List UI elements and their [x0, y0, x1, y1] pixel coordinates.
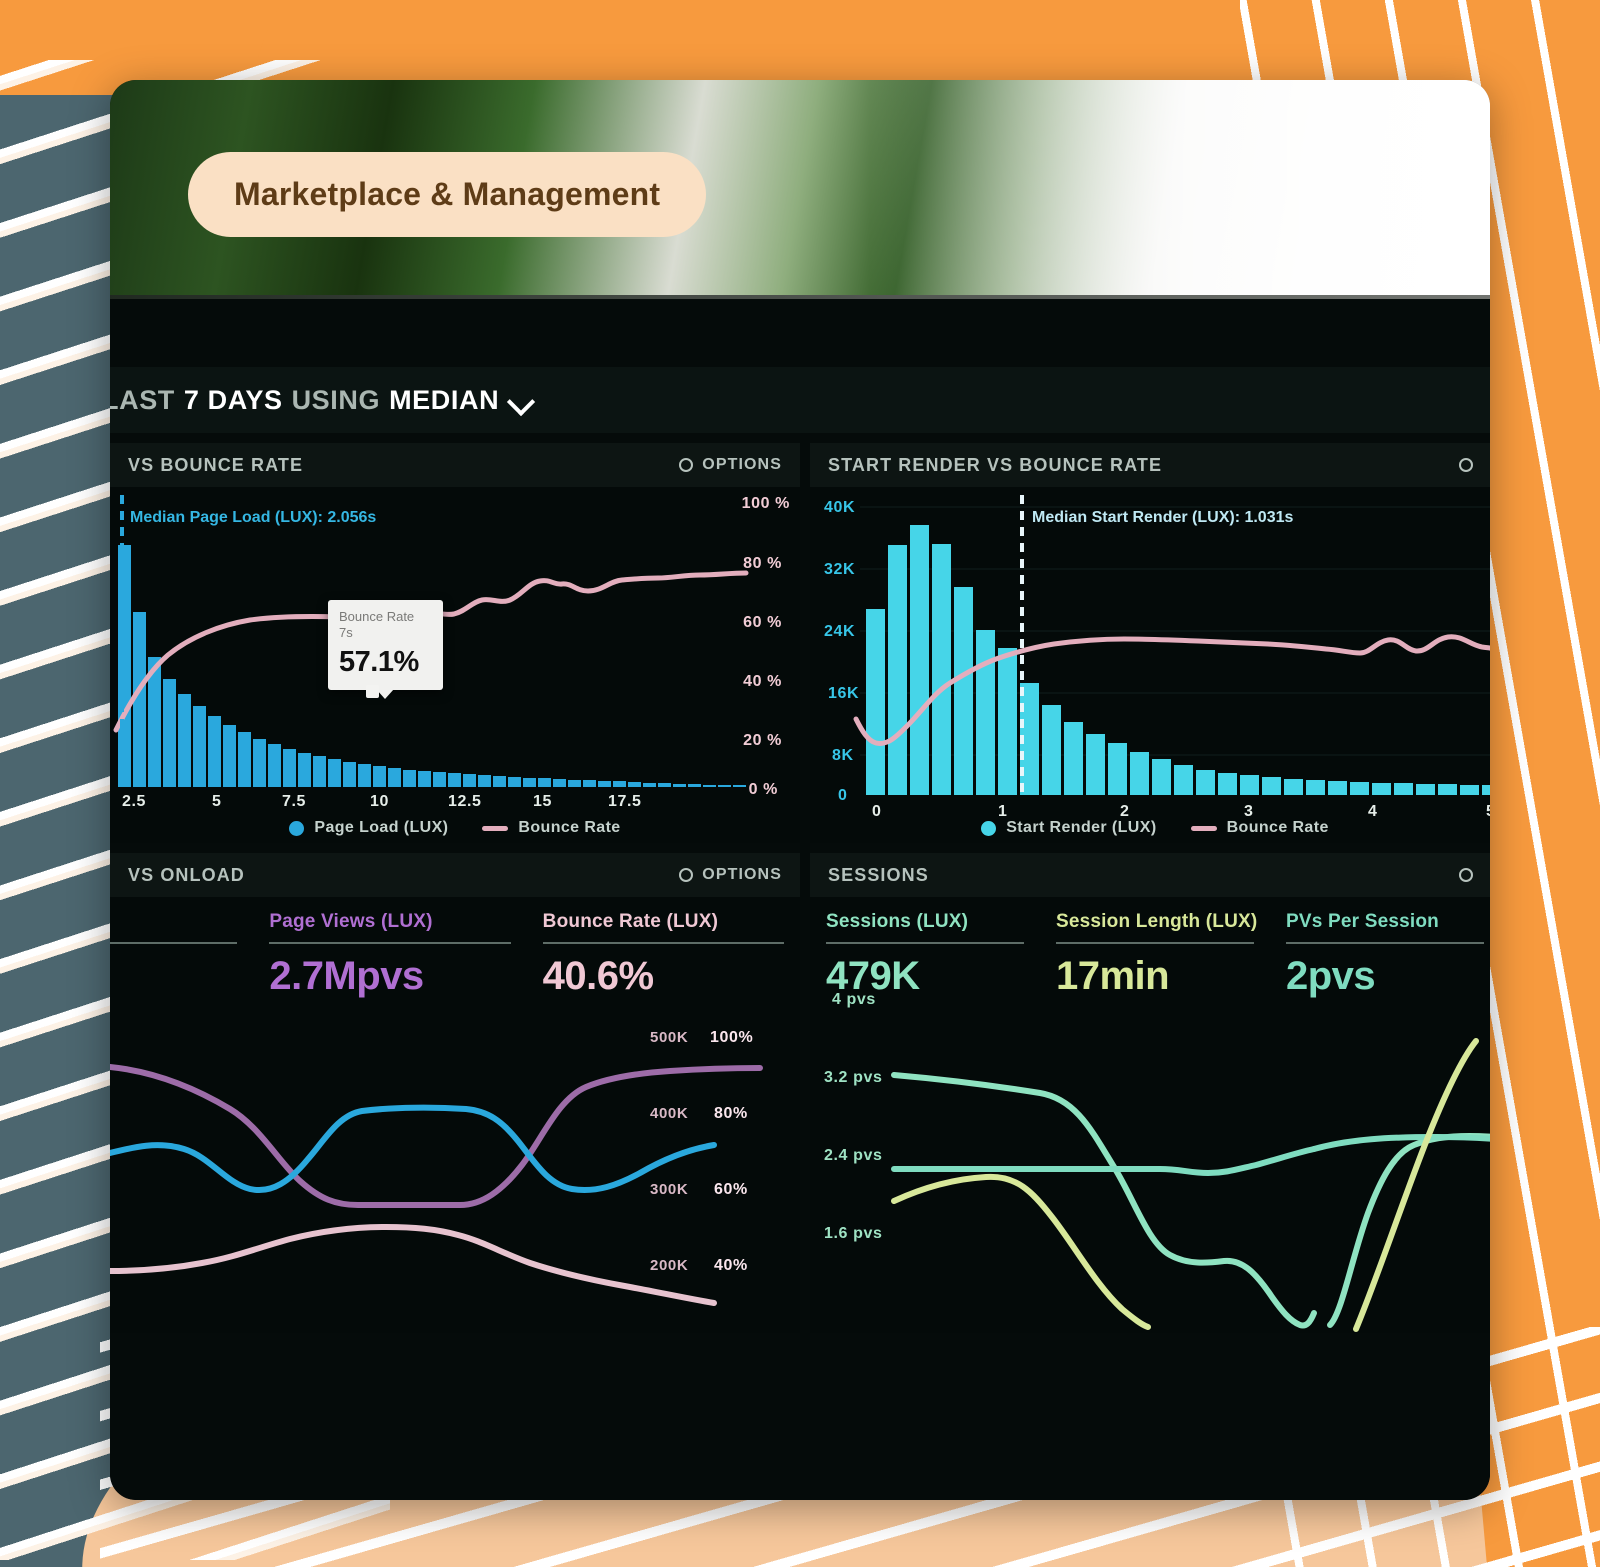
panel-header: START RENDER VS BOUNCE RATE	[810, 443, 1490, 487]
y-tick-60: 60 %	[743, 614, 782, 632]
panel-header: VS ONLOAD OPTIONS	[110, 853, 800, 897]
dashboard-card: Marketplace & Management LAST 7 DAYS USI…	[110, 80, 1490, 1500]
panel-start-render-vs-bounce-rate: START RENDER VS BOUNCE RATE	[810, 443, 1490, 843]
y-tick-500k: 500K	[650, 1029, 688, 1046]
options-button[interactable]	[1459, 868, 1482, 882]
panel-title: VS ONLOAD	[128, 865, 245, 886]
panel-sessions: SESSIONS Sessions (LUX) 479K Session Len…	[810, 853, 1490, 1333]
gear-icon	[1459, 458, 1473, 472]
y-tick-32k: 32K	[824, 561, 855, 579]
metric-tile-sessions[interactable]: Sessions (LUX) 479K	[810, 897, 1040, 999]
pvs-per-session-line-2	[1314, 1137, 1490, 1149]
options-button[interactable]	[1459, 458, 1482, 472]
onload-line	[110, 1108, 714, 1190]
sessions-line-2	[1330, 1136, 1490, 1325]
y-tick-2-4pvs: 2.4 pvs	[824, 1147, 882, 1165]
metric-value: 2pvs	[1286, 954, 1484, 999]
panel-title: SESSIONS	[828, 865, 929, 886]
legend-label: Page Load (LUX)	[314, 819, 448, 837]
y-tick-100: 100 %	[742, 495, 790, 513]
tooltip-sub: 7s	[339, 625, 432, 641]
metric-tile-pvs-per-session[interactable]: PVs Per Session 2pvs	[1270, 897, 1490, 999]
page-load-chart	[110, 487, 800, 843]
options-button[interactable]: OPTIONS	[679, 456, 782, 474]
options-button[interactable]: OPTIONS	[679, 866, 782, 884]
legend-item-bounce-rate[interactable]: Bounce Rate	[1191, 819, 1329, 837]
metric-rule	[1056, 942, 1254, 944]
x-tick-7-5: 7.5	[282, 793, 306, 811]
legend-label: Bounce Rate	[1227, 819, 1329, 837]
y-tick-100pct: 100%	[710, 1029, 753, 1047]
panel-page-load-vs-bounce-rate: VS BOUNCE RATE OPTIONS	[110, 443, 800, 843]
bounce-rate-tooltip: Bounce Rate 7s 57.1%	[328, 600, 443, 690]
legend-item-bounce-rate[interactable]: Bounce Rate	[482, 819, 620, 837]
gear-icon	[1459, 868, 1473, 882]
x-tick-5: 5	[212, 793, 222, 811]
legend-line-icon	[482, 826, 508, 831]
page-title: Marketplace & Management	[188, 152, 706, 237]
tooltip-value: 57.1%	[339, 646, 432, 679]
metric-tile-session-length[interactable]: Session Length (LUX) 17min	[1040, 897, 1270, 999]
sessions-sparklines	[890, 1013, 1490, 1333]
metric-label: LUX)	[110, 911, 237, 942]
median-page-load-label: Median Page Load (LUX): 2.056s	[130, 509, 376, 527]
tooltip-point-marker	[366, 685, 379, 698]
start-render-chart	[810, 487, 1490, 843]
y-tick-0: 0	[838, 787, 848, 805]
metric-value: 17min	[1056, 954, 1254, 999]
x-tick-10: 10	[370, 793, 389, 811]
y-tick-16k: 16K	[828, 685, 859, 703]
onload-sparklines	[110, 1013, 800, 1333]
metric-value: 40.6%	[543, 954, 784, 999]
session-length-line-2	[1356, 1041, 1476, 1329]
gear-icon	[679, 868, 693, 882]
options-label: OPTIONS	[702, 866, 782, 884]
session-length-line	[894, 1177, 1148, 1327]
y-tick-24k: 24K	[824, 623, 855, 641]
x-tick-15: 15	[533, 793, 552, 811]
bounce-rate-line	[856, 637, 1490, 744]
metric-rule	[269, 942, 510, 944]
legend-item-start-render[interactable]: Start Render (LUX)	[981, 819, 1156, 837]
y-tick-40: 40 %	[743, 673, 782, 691]
metric-label: Session Length (LUX)	[1056, 911, 1254, 942]
range-using: USING	[292, 385, 381, 416]
panel-header: VS BOUNCE RATE OPTIONS	[110, 443, 800, 487]
date-range-bar: LAST 7 DAYS USING MEDIAN	[110, 367, 1490, 433]
metric-row: Sessions (LUX) 479K Session Length (LUX)…	[810, 897, 1490, 999]
x-tick-17-5: 17.5	[608, 793, 642, 811]
median-start-render-label: Median Start Render (LUX): 1.031s	[1032, 509, 1293, 527]
x-tick-2-5: 2.5	[122, 793, 146, 811]
legend-label: Start Render (LUX)	[1006, 819, 1156, 837]
chart-legend: Start Render (LUX) Bounce Rate	[810, 819, 1490, 837]
metric-rule	[543, 942, 784, 944]
y-tick-80: 80 %	[743, 555, 782, 573]
dashboard-body: LAST 7 DAYS USING MEDIAN VS BOUNCE RATE …	[110, 299, 1490, 1500]
metric-rule	[1286, 942, 1484, 944]
legend-line-icon	[1191, 826, 1217, 831]
options-label: OPTIONS	[702, 456, 782, 474]
metric-row: LUX) Page Views (LUX) 2.7Mpvs Bounce Rat…	[110, 897, 800, 999]
panel-header: SESSIONS	[810, 853, 1490, 897]
gear-icon	[679, 458, 693, 472]
range-metric: MEDIAN	[389, 385, 499, 416]
legend-label: Bounce Rate	[518, 819, 620, 837]
legend-dot-icon	[289, 821, 304, 836]
panel-vs-onload: VS ONLOAD OPTIONS LUX) Page Views (LUX) …	[110, 853, 800, 1333]
legend-item-page-load[interactable]: Page Load (LUX)	[289, 819, 448, 837]
onload-sparkline-area	[110, 1013, 800, 1333]
metric-label: PVs Per Session	[1286, 911, 1484, 942]
chart-legend: Page Load (LUX) Bounce Rate	[110, 819, 800, 837]
panel-title: START RENDER VS BOUNCE RATE	[828, 455, 1162, 476]
plot-area: Median Start Render (LUX): 1.031s 40K 32…	[810, 487, 1490, 843]
y-tick-300k: 300K	[650, 1181, 688, 1198]
y-tick-1-6pvs: 1.6 pvs	[824, 1225, 882, 1243]
y-tick-40k: 40K	[824, 499, 855, 517]
metric-rule	[826, 942, 1024, 944]
y-tick-20: 20 %	[743, 732, 782, 750]
metric-value: 2.7Mpvs	[269, 954, 510, 999]
y-tick-0: 0 %	[749, 781, 778, 799]
y-tick-4pvs: 4 pvs	[832, 991, 876, 1009]
y-tick-200k: 200K	[650, 1257, 688, 1274]
plot-area: Median Page Load (LUX): 2.056s 100 % 80 …	[110, 487, 800, 843]
range-prefix: LAST	[110, 385, 175, 416]
y-tick-8k: 8K	[832, 747, 854, 765]
chevron-down-icon[interactable]	[508, 387, 534, 413]
panel-title: VS BOUNCE RATE	[128, 455, 303, 476]
y-tick-60pct: 60%	[714, 1181, 748, 1199]
sessions-sparkline-area	[890, 1013, 1490, 1333]
bounce-rate-line	[110, 1227, 714, 1303]
metric-tile-page-views[interactable]: Page Views (LUX) 2.7Mpvs	[253, 897, 526, 999]
metric-tile-onload[interactable]: LUX)	[110, 897, 253, 999]
y-tick-40pct: 40%	[714, 1257, 748, 1275]
y-tick-80pct: 80%	[714, 1105, 748, 1123]
metric-tile-bounce-rate[interactable]: Bounce Rate (LUX) 40.6%	[527, 897, 800, 999]
x-tick-12-5: 12.5	[448, 793, 482, 811]
metric-rule	[110, 942, 237, 944]
y-tick-3-2pvs: 3.2 pvs	[824, 1069, 882, 1087]
range-days: 7 DAYS	[184, 385, 283, 416]
legend-dot-icon	[981, 821, 996, 836]
metric-label: Page Views (LUX)	[269, 911, 510, 942]
metric-label: Bounce Rate (LUX)	[543, 911, 784, 942]
y-tick-400k: 400K	[650, 1105, 688, 1122]
metric-label: Sessions (LUX)	[826, 911, 1024, 942]
date-range-selector[interactable]: LAST 7 DAYS USING MEDIAN	[110, 385, 534, 416]
tooltip-label: Bounce Rate	[339, 609, 432, 625]
